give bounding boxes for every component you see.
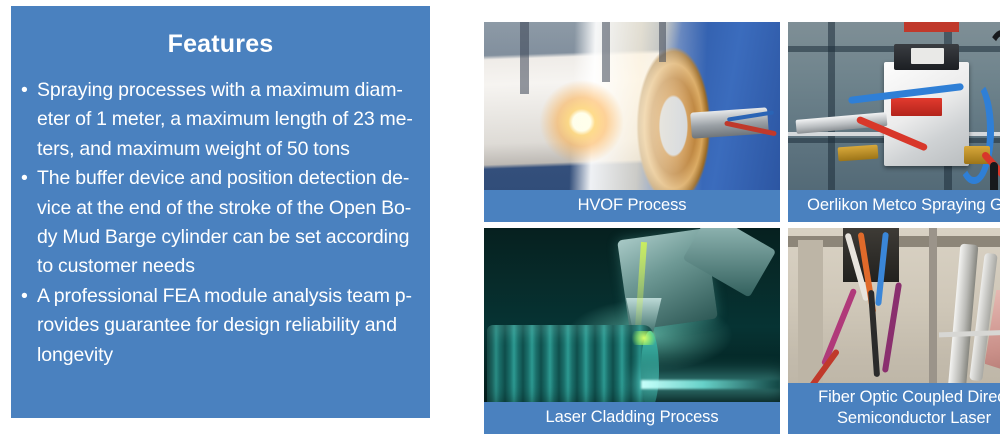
caption-fiber-optic-laser: Fiber Optic Coupled Direct Semiconductor… bbox=[788, 383, 1000, 434]
list-item-text: A professional FEA module analysis team … bbox=[37, 282, 418, 370]
list-item: • A professional FEA module analysis tea… bbox=[20, 282, 418, 370]
list-item-text: The buffer device and position detection… bbox=[37, 164, 418, 282]
gallery-cell-hvof-process[interactable]: HVOF Process bbox=[484, 22, 780, 222]
caption-laser-cladding: Laser Cladding Process bbox=[484, 402, 780, 434]
page-title: Features bbox=[11, 6, 430, 62]
bullet-icon: • bbox=[21, 76, 28, 105]
bullet-icon: • bbox=[21, 282, 28, 311]
features-panel: Features • Spraying processes with a max… bbox=[11, 6, 430, 418]
list-item: • Spraying processes with a maximum diam… bbox=[20, 76, 418, 164]
image-grid: HVOF Process bbox=[444, 6, 1000, 418]
features-list: • Spraying processes with a maximum diam… bbox=[11, 62, 430, 370]
gallery-cell-oerlikon-gun[interactable]: Oerlikon Metco Spraying Gun bbox=[788, 22, 1000, 222]
caption-hvof-process: HVOF Process bbox=[484, 190, 780, 222]
gallery-cell-laser-cladding[interactable]: Laser Cladding Process bbox=[484, 228, 780, 434]
gallery-row-bottom: Laser Cladding Process bbox=[444, 212, 1000, 418]
gallery-cell-fiber-optic-laser[interactable]: Fiber Optic Coupled Direct Semiconductor… bbox=[788, 228, 1000, 434]
gallery-row-top: HVOF Process bbox=[444, 6, 1000, 206]
bullet-icon: • bbox=[21, 164, 28, 193]
caption-oerlikon-gun: Oerlikon Metco Spraying Gun bbox=[788, 190, 1000, 222]
list-item-text: Spraying processes with a maximum diam- … bbox=[37, 76, 418, 164]
features-and-process-gallery: Features • Spraying processes with a max… bbox=[0, 0, 1000, 429]
list-item: • The buffer device and position detecti… bbox=[20, 164, 418, 282]
